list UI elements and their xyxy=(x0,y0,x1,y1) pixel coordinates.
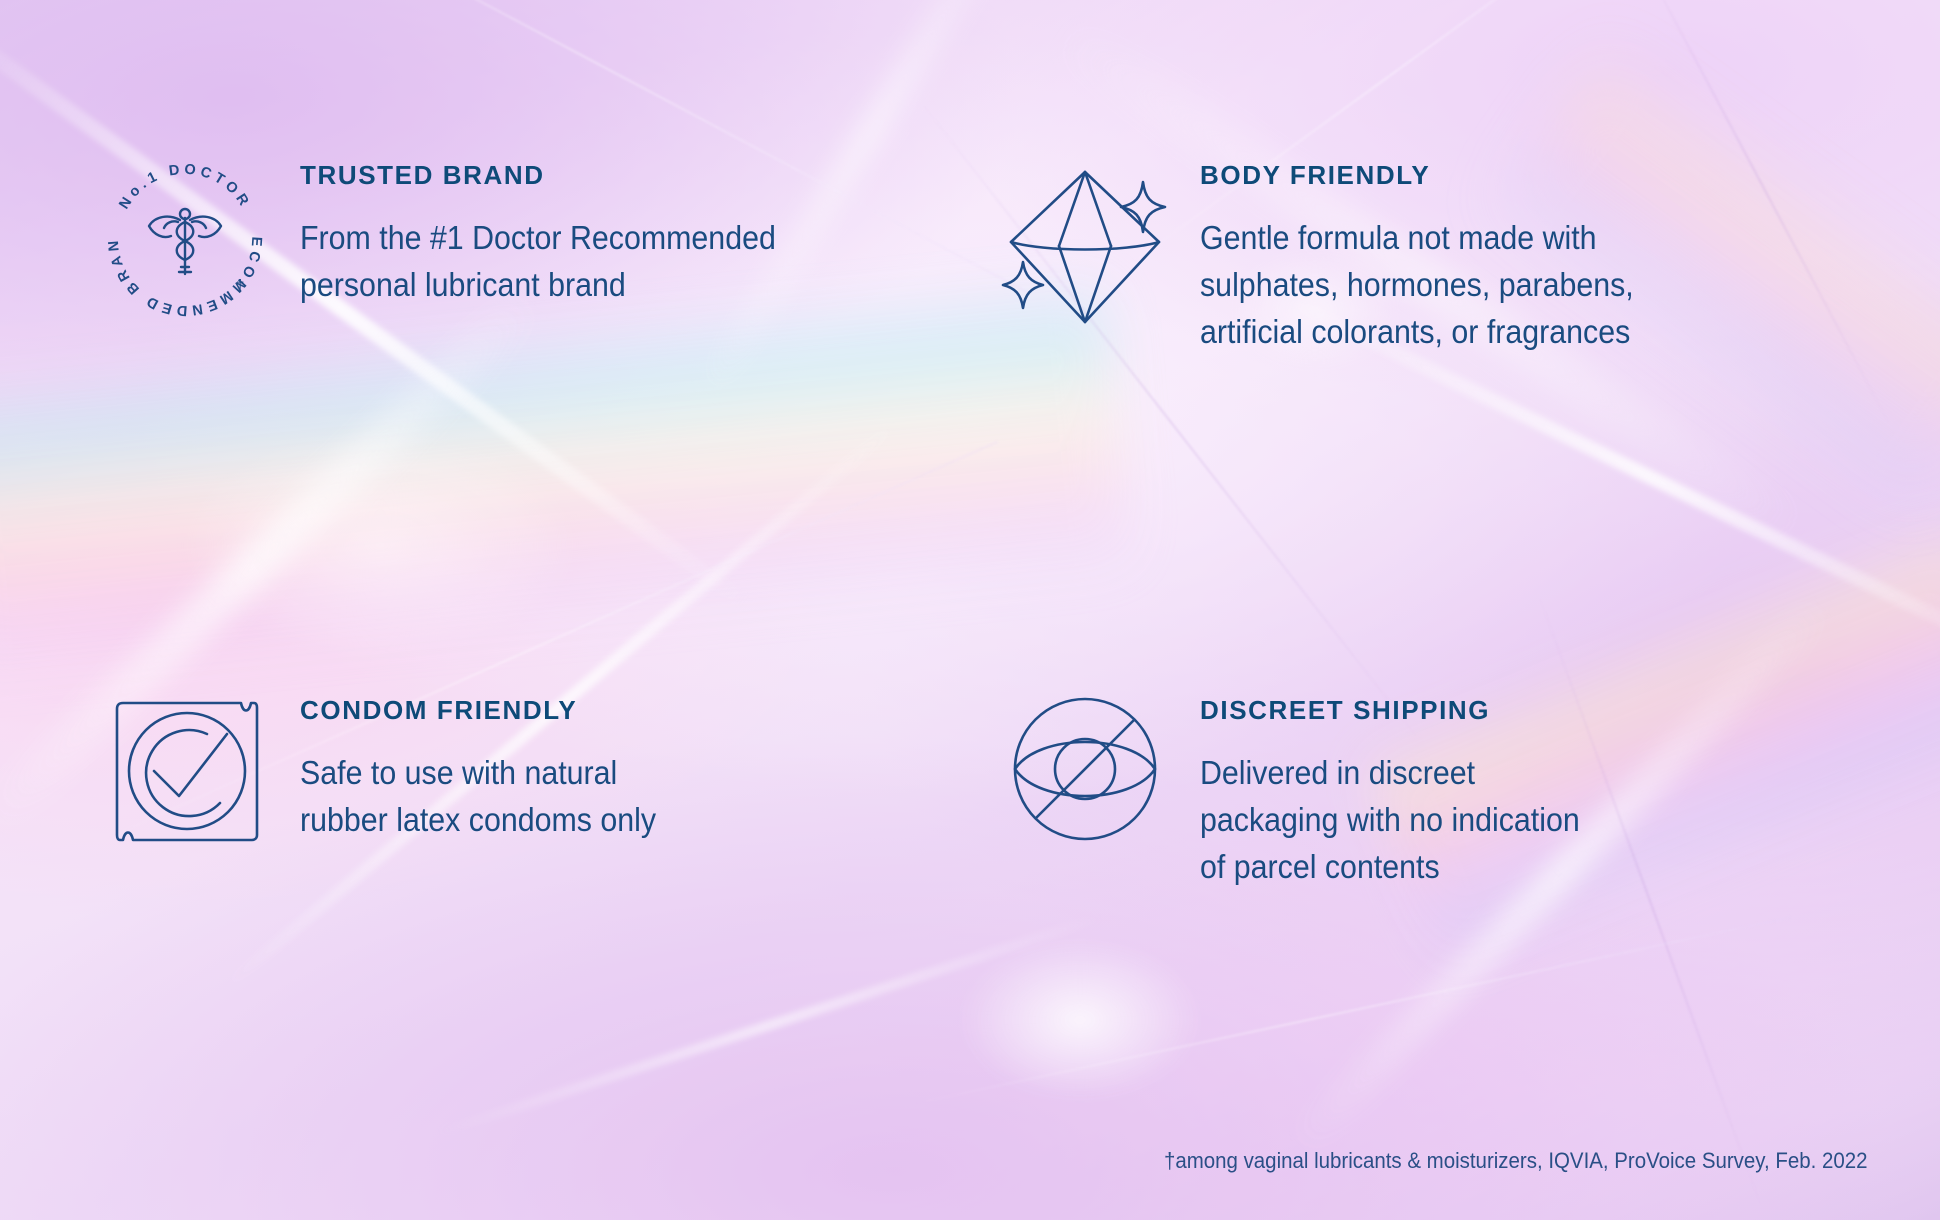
feature-discreet-shipping: DISCREET SHIPPING Delivered in discreet … xyxy=(970,625,1870,1100)
feature-body: Safe to use with natural rubber latex co… xyxy=(300,750,656,844)
svg-text:†: † xyxy=(236,277,244,294)
feature-text-block: TRUSTED BRAND From the #1 Doctor Recomme… xyxy=(300,150,817,309)
feature-condom-friendly: CONDOM FRIENDLY Safe to use with natural… xyxy=(70,625,970,1100)
feature-heading: DISCREET SHIPPING xyxy=(1200,695,1613,726)
footnote-disclaimer: †among vaginal lubricants & moisturizers… xyxy=(1164,1148,1868,1174)
feature-grid: No.1 DOCTOR RECOMMENDED BRAND † xyxy=(0,0,1940,1220)
doctor-recommended-badge-icon: No.1 DOCTOR RECOMMENDED BRAND † xyxy=(70,150,300,324)
feature-trusted-brand: No.1 DOCTOR RECOMMENDED BRAND † xyxy=(70,150,970,625)
feature-benefits-banner: No.1 DOCTOR RECOMMENDED BRAND † xyxy=(0,0,1940,1220)
feature-heading: CONDOM FRIENDLY xyxy=(300,695,687,726)
feature-text-block: DISCREET SHIPPING Delivered in discreet … xyxy=(1200,685,1613,891)
gem-sparkle-icon xyxy=(970,150,1200,339)
feature-body: Delivered in discreet packaging with no … xyxy=(1200,750,1580,891)
eye-slash-icon xyxy=(970,685,1200,849)
svg-text:No.1 DOCTOR: No.1 DOCTOR xyxy=(116,162,253,213)
feature-heading: BODY FRIENDLY xyxy=(1200,160,1671,191)
condom-wrapper-check-icon xyxy=(70,685,300,854)
feature-text-block: CONDOM FRIENDLY Safe to use with natural… xyxy=(300,685,687,844)
feature-body-friendly: BODY FRIENDLY Gentle formula not made wi… xyxy=(970,150,1870,625)
feature-body: From the #1 Doctor Recommended personal … xyxy=(300,215,776,309)
feature-body: Gentle formula not made with sulphates, … xyxy=(1200,215,1634,356)
feature-heading: TRUSTED BRAND xyxy=(300,160,817,191)
feature-text-block: BODY FRIENDLY Gentle formula not made wi… xyxy=(1200,150,1671,356)
